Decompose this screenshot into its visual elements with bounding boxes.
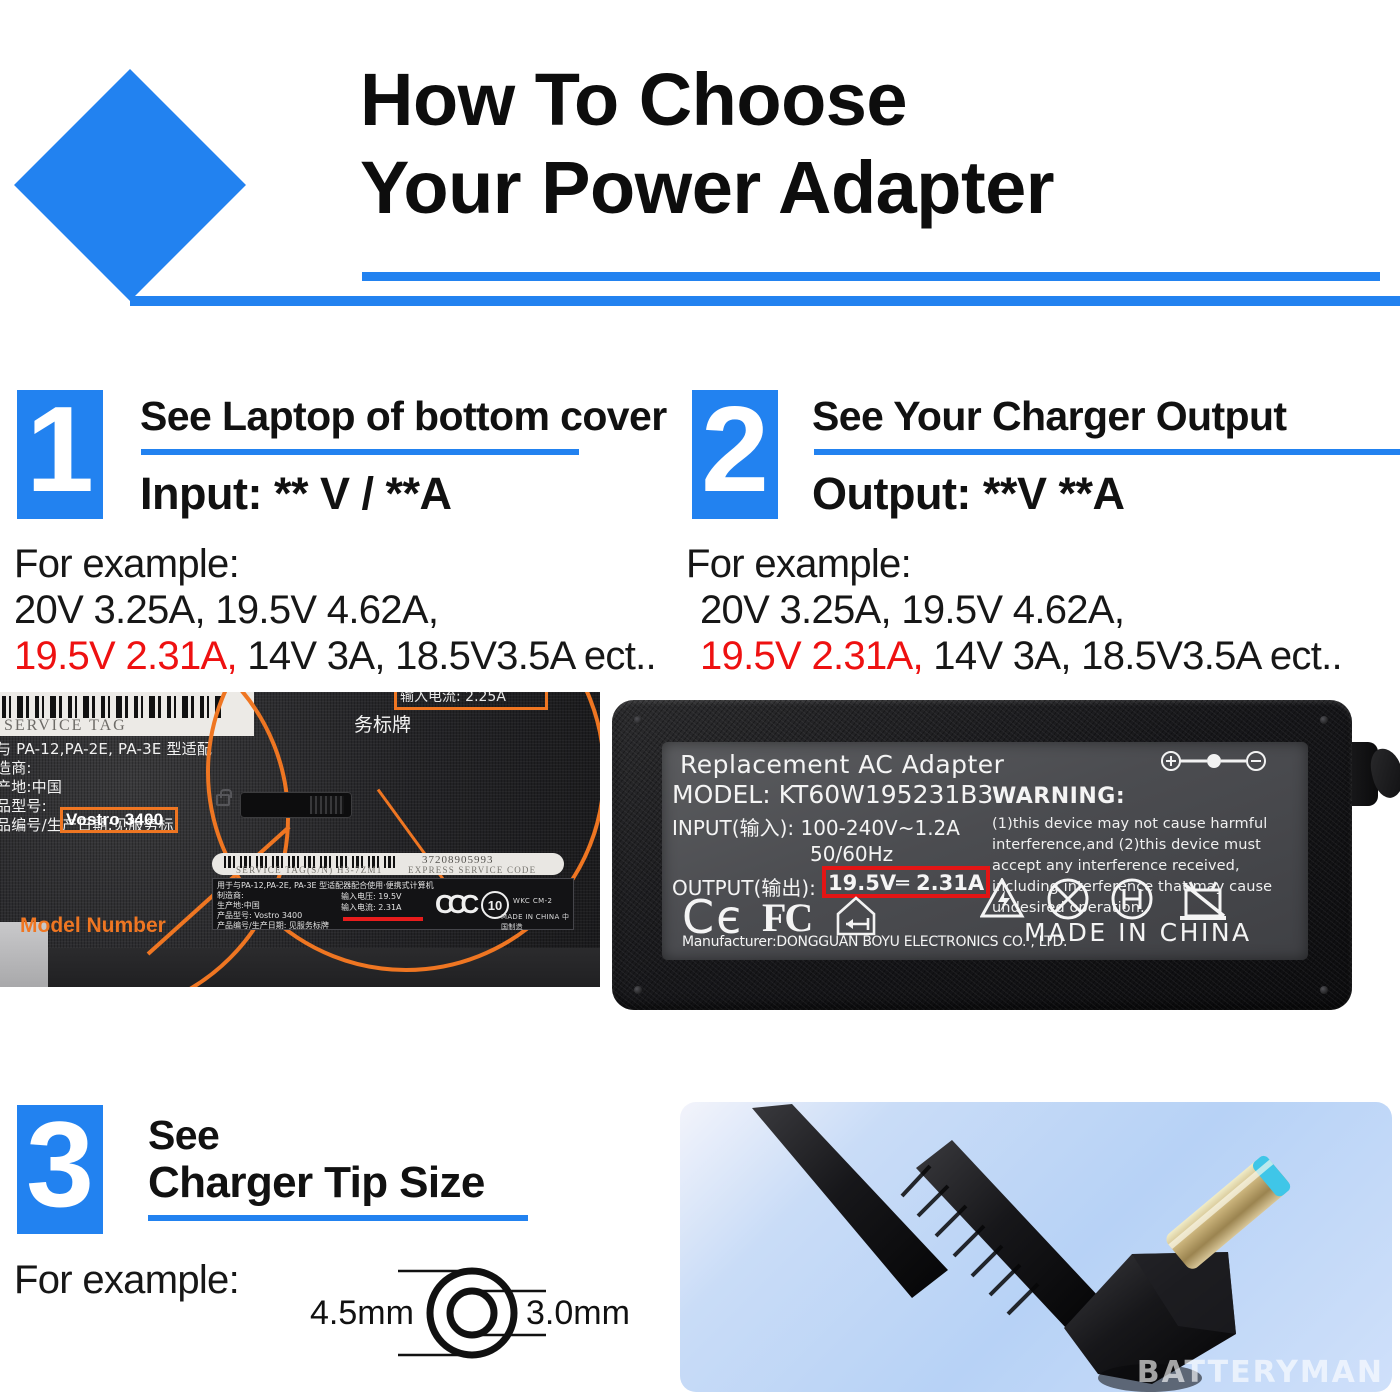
high-voltage-icon bbox=[982, 880, 1022, 916]
house-recycle-icon bbox=[834, 894, 878, 936]
step-3-underline bbox=[148, 1215, 528, 1221]
adapter-model-line: MODEL: KT60W195231B3 bbox=[672, 780, 993, 809]
charger-tip-size-diagram: 4.5mm 3.0mm bbox=[310, 1238, 640, 1388]
step-2-example-label: For example: bbox=[686, 542, 911, 587]
screw-icon bbox=[634, 986, 642, 994]
title-line-2: Your Power Adapter bbox=[360, 148, 1380, 228]
adapter-title: Replacement AC Adapter bbox=[680, 750, 1004, 779]
step-1-subheading: Input: ** V / **A bbox=[140, 468, 452, 520]
rating-voltage-line: 输入电压: 19.5V bbox=[341, 891, 402, 902]
step-1-badge: 1 bbox=[17, 390, 103, 519]
step-1-heading: See Laptop of bottom cover bbox=[140, 393, 667, 440]
strain-relief bbox=[902, 1140, 1100, 1328]
step-3-badge: 3 bbox=[17, 1105, 103, 1234]
step-2-example-line-2: 19.5V 2.31A, 14V 3A, 18.5V3.5A ect.. bbox=[700, 634, 1342, 679]
ce-mark-icon: Cє bbox=[682, 890, 743, 944]
rating-underline-highlight bbox=[343, 917, 423, 921]
screw-icon bbox=[1320, 716, 1328, 724]
diamond-decoration bbox=[14, 69, 246, 301]
ac-adapter-photo: Replacement AC Adapter MODEL: KT60W19523… bbox=[612, 700, 1400, 1030]
outer-diameter-circle bbox=[430, 1271, 514, 1355]
laptop-barcode-sticker: SERVICE TAG(S/N) H3-7ZM1 37208905993 EXP… bbox=[212, 853, 564, 875]
page-title: How To Choose Your Power Adapter bbox=[360, 60, 1380, 228]
h-mark-icon bbox=[1113, 880, 1151, 918]
step-1-example-line-2: 19.5V 2.31A, 14V 3A, 18.5V3.5A ect.. bbox=[14, 634, 656, 679]
adapter-rating-label: Replacement AC Adapter MODEL: KT60W19523… bbox=[662, 742, 1308, 960]
step-1-underline bbox=[141, 449, 579, 455]
adapter-body: Replacement AC Adapter MODEL: KT60W19523… bbox=[612, 700, 1352, 1010]
step-2-example-rest: 14V 3A, 18.5V3.5A ect.. bbox=[923, 634, 1342, 678]
cable bbox=[752, 1104, 948, 1298]
screw-icon bbox=[634, 716, 642, 724]
step-1-example-line-1: 20V 3.25A, 19.5V 4.62A, bbox=[14, 588, 438, 633]
wkc-mark-label: WKC CM-2 bbox=[513, 897, 552, 905]
header-rule-lower bbox=[130, 296, 1400, 306]
no-disassemble-icon bbox=[1049, 880, 1087, 918]
battery-latch bbox=[240, 792, 352, 818]
laptop-bottom-photo: SERVICE TAG 与 PA-12,PA-2E, PA-3E 型适配 造商:… bbox=[0, 692, 600, 987]
step-2-underline bbox=[814, 449, 1400, 455]
outer-diameter-label: 4.5mm bbox=[310, 1294, 414, 1333]
polarity-icon bbox=[1160, 750, 1268, 772]
step-1-highlight-value: 19.5V 2.31A, bbox=[14, 634, 237, 678]
adapter-frequency-line: 50/60Hz bbox=[810, 842, 893, 866]
step-1-example-label: For example: bbox=[14, 542, 239, 587]
fcc-mark-icon: FC bbox=[762, 894, 811, 941]
express-service-code-label: EXPRESS SERVICE CODE bbox=[408, 865, 536, 875]
weee-bin-icon bbox=[1180, 882, 1226, 918]
compliance-icons-group bbox=[980, 878, 1240, 920]
step-2-example-line-1: 20V 3.25A, 19.5V 4.62A, bbox=[700, 588, 1124, 633]
step-2-badge: 2 bbox=[692, 390, 778, 519]
connector-tip-photo: BATTERYMAN bbox=[680, 1102, 1392, 1392]
inner-diameter-circle bbox=[450, 1291, 494, 1335]
step-3-heading-line-2: Charger Tip Size bbox=[148, 1158, 485, 1208]
rating-plate-electrical: 输入电压: 19.5V 输入电流: 2.31A bbox=[341, 891, 402, 913]
service-tag-sn-label: SERVICE TAG(S/N) H3-7ZM1 bbox=[236, 865, 383, 875]
title-line-1: How To Choose bbox=[360, 60, 1380, 140]
ccc-mark-icon: CCC bbox=[435, 889, 473, 920]
adapter-warning-heading: WARNING: bbox=[992, 784, 1125, 809]
inner-diameter-label: 3.0mm bbox=[526, 1294, 630, 1333]
adapter-output-value: 19.5V═ 2.31A bbox=[828, 871, 984, 895]
step-2-subheading: Output: **V **A bbox=[812, 468, 1125, 520]
lock-icon bbox=[216, 794, 230, 806]
made-in-china-label: MADE IN CHINA 中国制造 bbox=[501, 912, 573, 932]
step-2-highlight-value: 19.5V 2.31A, bbox=[700, 634, 923, 678]
connector-illustration bbox=[680, 1102, 1392, 1392]
header-rule-upper bbox=[362, 272, 1380, 281]
step-1-example-rest: 14V 3A, 18.5V3.5A ect.. bbox=[237, 634, 656, 678]
laptop-rating-plate: 用于与PA-12,PA-2E, PA-3E 型适配器配合使用·便携式计算机 制造… bbox=[212, 878, 574, 930]
watermark-text: BATTERYMAN bbox=[1137, 1355, 1384, 1390]
screw-icon bbox=[1320, 986, 1328, 994]
step-3-heading-line-1: See bbox=[148, 1112, 219, 1159]
step-2-heading: See Your Charger Output bbox=[812, 393, 1286, 440]
adapter-input-line: INPUT(输入): 100-240V~1.2A bbox=[672, 812, 960, 841]
model-number-caption: Model Number bbox=[20, 914, 166, 938]
step-3-example-label: For example: bbox=[14, 1258, 239, 1303]
infographic-page: How To Choose Your Power Adapter 1 See L… bbox=[0, 0, 1400, 1400]
rating-current-line: 输入电流: 2.31A bbox=[341, 902, 402, 913]
